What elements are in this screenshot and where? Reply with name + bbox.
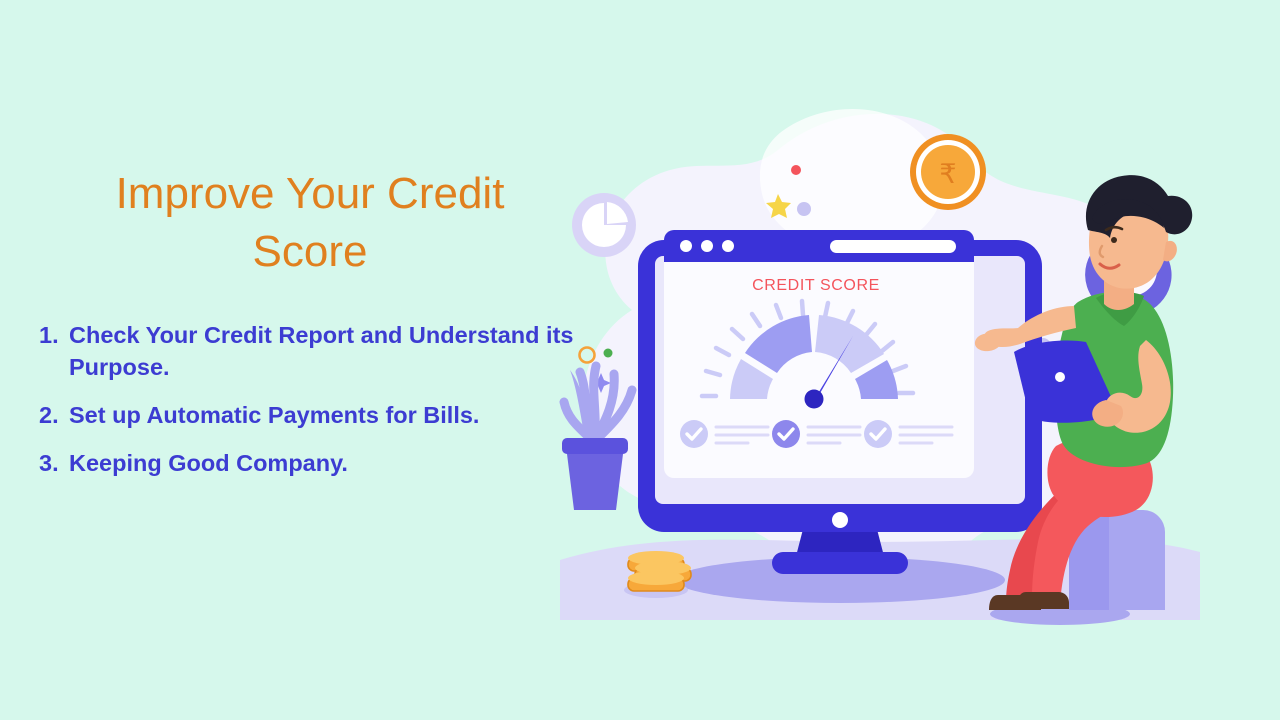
- monitor-power-dot: [832, 512, 848, 528]
- list-item-number: 1.: [39, 319, 69, 351]
- gauge-hub: [805, 390, 824, 409]
- tablet-camera-dot: [1055, 372, 1065, 382]
- list-item-number: 3.: [39, 447, 69, 479]
- dot-green: [604, 349, 613, 358]
- list-item-label: Set up Automatic Payments for Bills.: [69, 399, 586, 431]
- browser-dot-2[interactable]: [701, 240, 713, 252]
- monitor-stand-base: [772, 552, 908, 574]
- rupee-symbol: ₹: [939, 159, 956, 190]
- rupee-coin-icon: ₹: [910, 134, 986, 210]
- browser-dot-1[interactable]: [680, 240, 692, 252]
- browser-frame: [664, 230, 974, 478]
- person-eye: [1111, 237, 1117, 243]
- page-title: Improve Your Credit Score: [34, 165, 586, 281]
- screen-title: CREDIT SCORE: [752, 277, 880, 294]
- dot-red: [791, 165, 801, 175]
- browser-window: CREDIT SCORE: [664, 230, 974, 478]
- person-shoe-front: [1017, 592, 1069, 609]
- list-item-label: Keeping Good Company.: [69, 447, 586, 479]
- credit-score-illustration: ₹: [540, 90, 1280, 650]
- tips-list: 1. Check Your Credit Report and Understa…: [34, 319, 586, 479]
- slide-canvas: Improve Your Credit Score 1. Check Your …: [0, 0, 1280, 720]
- browser-dot-3[interactable]: [722, 240, 734, 252]
- dot-lavender: [797, 202, 811, 216]
- coin-stack: [624, 551, 691, 598]
- list-item: 1. Check Your Credit Report and Understa…: [34, 319, 586, 383]
- list-item-label: Check Your Credit Report and Understand …: [69, 319, 586, 383]
- browser-address-bar[interactable]: [830, 240, 956, 253]
- list-item-number: 2.: [39, 399, 69, 431]
- list-item: 3. Keeping Good Company.: [34, 447, 586, 479]
- list-item: 2. Set up Automatic Payments for Bills.: [34, 399, 586, 431]
- text-column: Improve Your Credit Score 1. Check Your …: [34, 165, 586, 495]
